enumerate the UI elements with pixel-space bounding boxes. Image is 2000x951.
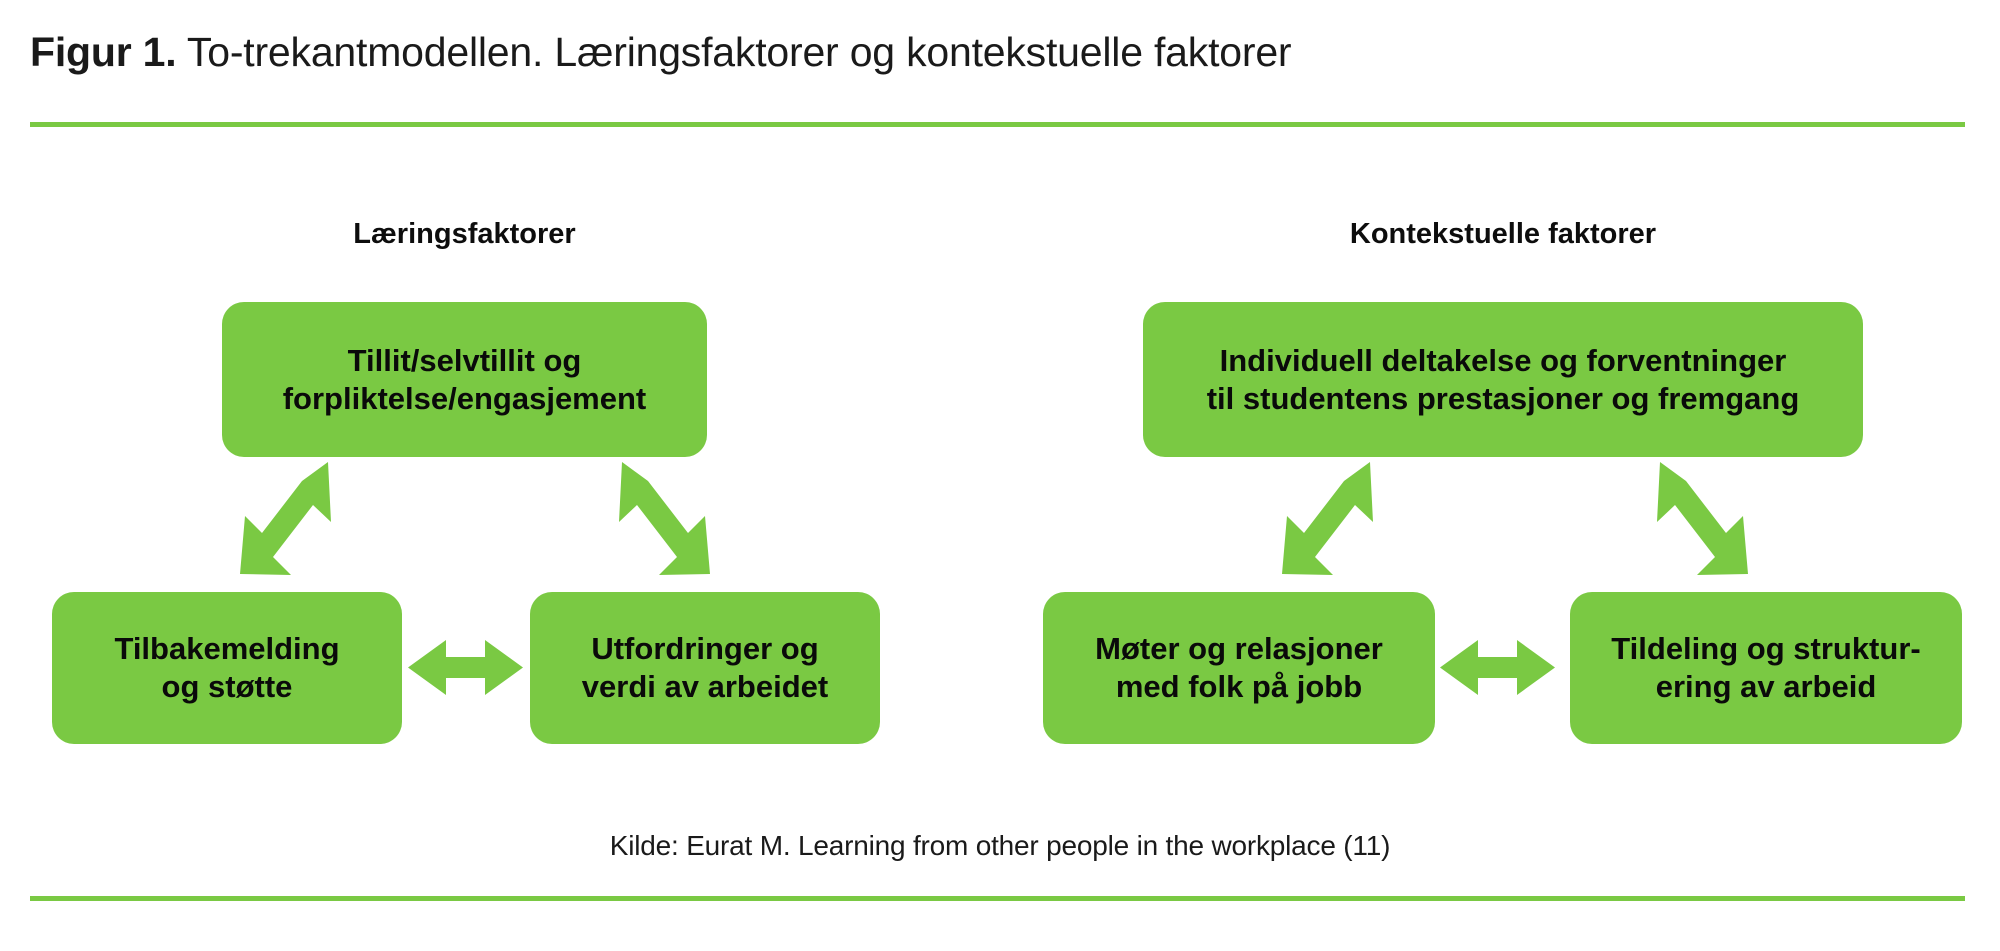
- node-line-2: verdi av arbeidet: [582, 669, 828, 704]
- node-line-1: Møter og relasjoner: [1095, 631, 1383, 666]
- source-caption: Kilde: Eurat M. Learning from other peop…: [0, 830, 2000, 862]
- node-line-1: Individuell deltakelse og forventninger: [1220, 343, 1787, 378]
- node-line-2: ering av arbeid: [1656, 669, 1877, 704]
- node-meetings-relations[interactable]: Møter og relasjoner med folk på jobb: [1043, 592, 1435, 744]
- double-headed-horizontal-arrow: [1440, 635, 1555, 700]
- node-challenge-value[interactable]: Utfordringer og verdi av arbeidet: [530, 592, 880, 744]
- double-headed-diagonal-up-left-arrow: [1642, 456, 1752, 581]
- node-feedback-support[interactable]: Tilbakemelding og støtte: [52, 592, 402, 744]
- node-individual-participation[interactable]: Individuell deltakelse og forventninger …: [1143, 302, 1863, 457]
- node-trust-commitment[interactable]: Tillit/selvtillit og forpliktelse/engasj…: [222, 302, 707, 457]
- double-headed-horizontal-arrow: [408, 635, 523, 700]
- node-challenge-value-text: Utfordringer og verdi av arbeidet: [582, 630, 828, 706]
- node-allocation-structuring[interactable]: Tildeling og struktur- ering av arbeid: [1570, 592, 1962, 744]
- node-meetings-relations-text: Møter og relasjoner med folk på jobb: [1095, 630, 1383, 706]
- node-individual-participation-text: Individuell deltakelse og forventninger …: [1207, 342, 1800, 418]
- divider-top: [30, 122, 1965, 127]
- figure-title-text: To-trekantmodellen. Læringsfaktorer og k…: [176, 29, 1291, 75]
- node-line-2: med folk på jobb: [1116, 669, 1362, 704]
- node-line-1: Tildeling og struktur-: [1611, 631, 1920, 666]
- node-line-1: Utfordringer og: [591, 631, 818, 666]
- node-allocation-structuring-text: Tildeling og struktur- ering av arbeid: [1611, 630, 1920, 706]
- page-title: Figur 1. To-trekantmodellen. Læringsfakt…: [30, 30, 1930, 75]
- node-trust-commitment-text: Tillit/selvtillit og forpliktelse/engasj…: [283, 342, 647, 418]
- double-headed-diagonal-up-right-arrow: [236, 456, 346, 581]
- node-line-2: forpliktelse/engasjement: [283, 381, 647, 416]
- column-header-learning-factors: Læringsfaktorer: [222, 218, 707, 251]
- node-line-2: til studentens prestasjoner og fremgang: [1207, 381, 1800, 416]
- figure-label: Figur 1.: [30, 29, 176, 75]
- column-header-contextual-factors: Kontekstuelle faktorer: [1143, 218, 1863, 251]
- two-triangle-diagram: Læringsfaktorer Kontekstuelle faktorer T…: [0, 130, 2000, 890]
- node-line-2: og støtte: [162, 669, 293, 704]
- double-headed-diagonal-up-right-arrow: [1278, 456, 1388, 581]
- node-line-1: Tilbakemelding: [114, 631, 339, 666]
- double-headed-diagonal-up-left-arrow: [604, 456, 714, 581]
- divider-bottom: [30, 896, 1965, 901]
- node-feedback-support-text: Tilbakemelding og støtte: [114, 630, 339, 706]
- node-line-1: Tillit/selvtillit og: [348, 343, 582, 378]
